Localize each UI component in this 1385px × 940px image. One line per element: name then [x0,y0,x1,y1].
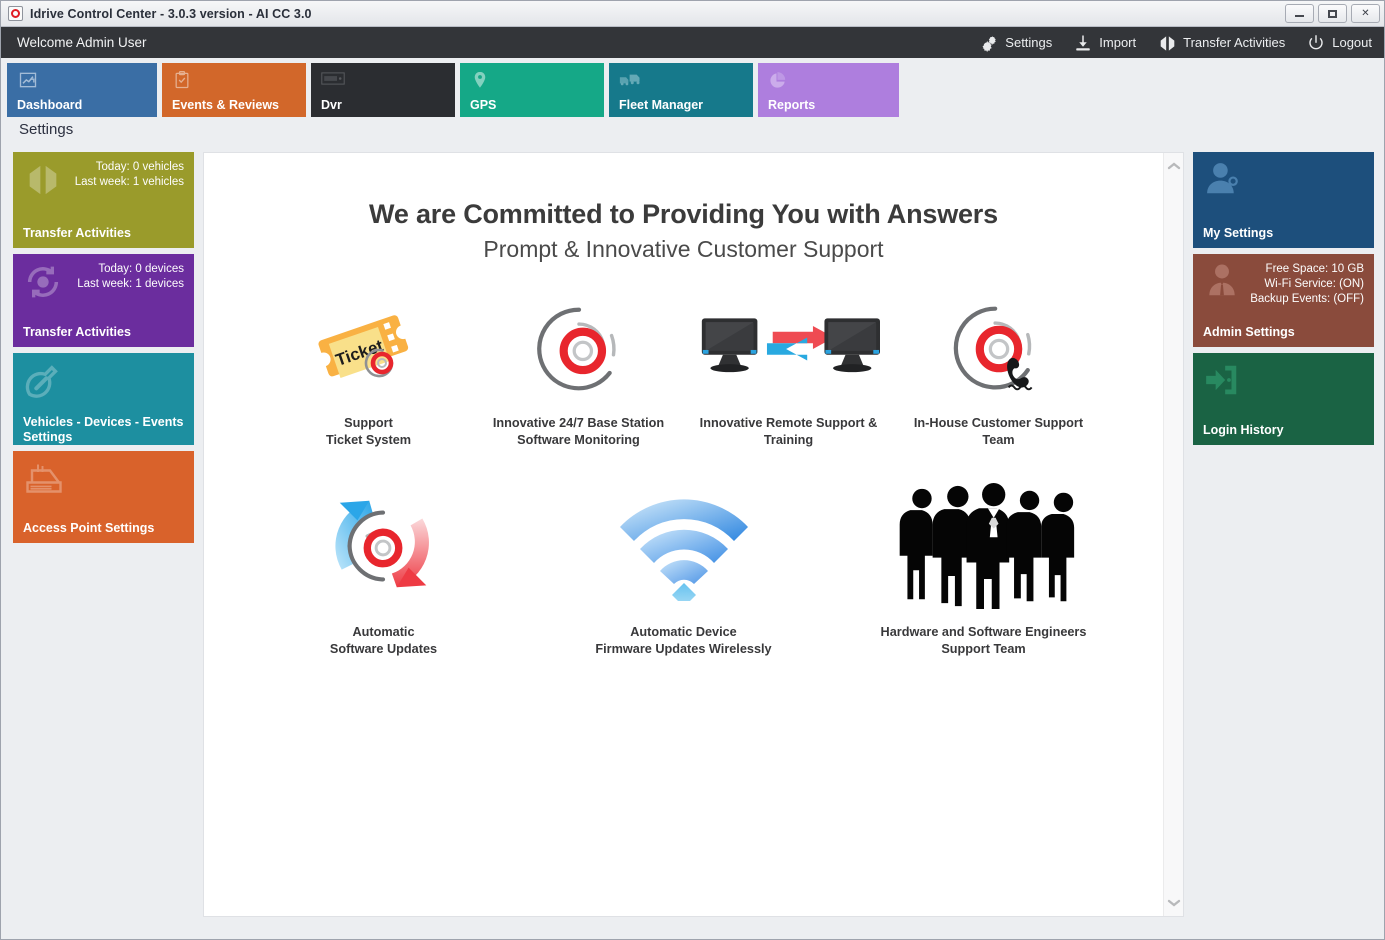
close-button[interactable]: ✕ [1351,4,1380,23]
tile-login-history[interactable]: Login History [1193,353,1374,445]
tile-label: Transfer Activities [23,317,184,340]
top-toolbar: Welcome Admin User Settings [1,27,1384,58]
page-title: Settings [19,121,73,138]
settings-label: Settings [1005,35,1052,50]
tab-dashboard-label: Dashboard [17,98,147,117]
content-scroll-area: We are Committed to Providing You with A… [204,153,1163,916]
feature-caption: Automatic Software Updates [330,624,437,658]
tile-admin-settings[interactable]: Free Space: 10 GB Wi-Fi Service: (ON) Ba… [1193,254,1374,347]
stat-wifi-service: Wi-Fi Service: (ON) [1250,277,1364,292]
feature-caption: Automatic Device Firmware Updates Wirele… [595,624,771,658]
fleet-vehicles-icon [619,70,641,90]
right-tile-column: My Settings Free Space: 10 GB Wi [1193,152,1374,917]
tab-reports[interactable]: Reports [758,63,899,117]
feature-hardware-software-engineers: Hardware and Software Engineers Support … [834,483,1134,658]
caption-line-1: Automatic Device [595,624,771,641]
remote-monitors-icon [698,299,880,399]
tab-reports-label: Reports [768,98,889,117]
tab-fleet-manager[interactable]: Fleet Manager [609,63,753,117]
router-icon [23,459,63,499]
wifi-signal-icon [614,483,754,608]
import-button[interactable]: Import [1074,34,1136,52]
feature-in-house-support-team: In-House Customer Support Team [894,299,1104,449]
base-station-target-icon [533,299,625,399]
logout-button[interactable]: Logout [1307,34,1372,52]
feature-caption: Innovative 24/7 Base Station Software Mo… [493,415,664,449]
login-door-icon [1203,361,1243,401]
tile-label: My Settings [1203,218,1364,241]
tile-transfer-activities-devices[interactable]: Today: 0 devices Last week: 1 devices Tr… [13,254,194,347]
transfer-arrows-icon [1158,34,1176,52]
caption-line-2: Software Monitoring [493,432,664,449]
tile-vehicles-devices-events-settings[interactable]: Vehicles - Devices - Events Settings [13,353,194,445]
caption-line-1: Hardware and Software Engineers [881,624,1087,641]
maximize-button[interactable] [1318,4,1347,23]
feature-row-1: Ticket Support Ticket S [204,299,1163,449]
transfer-activities-label: Transfer Activities [1183,35,1285,50]
team-silhouettes-icon [886,483,1082,608]
power-icon [1307,34,1325,52]
app-logo-icon [8,6,23,21]
clipboard-check-icon [172,70,194,90]
caption-line-2: Ticket System [326,432,411,449]
support-ticket-icon: Ticket [314,299,424,399]
scrollbar-track[interactable] [1164,171,1183,898]
caption-line-2: Software Updates [330,641,437,658]
wrench-icon [23,361,63,401]
tile-stats: Today: 0 vehicles Last week: 1 vehicles [75,160,184,190]
caption-line-2: Firmware Updates Wirelessly [595,641,771,658]
sync-device-icon [23,262,63,302]
feature-caption: In-House Customer Support Team [914,415,1083,449]
tab-fleet-manager-label: Fleet Manager [619,98,743,117]
pie-chart-icon [768,70,790,90]
feature-automatic-software-updates: Automatic Software Updates [234,483,534,658]
transfer-activities-button[interactable]: Transfer Activities [1158,34,1285,52]
left-tile-column: Today: 0 vehicles Last week: 1 vehicles … [13,152,194,917]
logout-label: Logout [1332,35,1372,50]
chevron-up-icon[interactable] [1167,161,1181,171]
stat-today: Today: 0 vehicles [75,160,184,175]
application-window: Idrive Control Center - 3.0.3 version - … [0,0,1385,940]
content-headline: We are Committed to Providing You with A… [204,199,1163,230]
tile-label: Vehicles - Devices - Events Settings [23,407,184,445]
caption-line-1: Innovative 24/7 Base Station [493,415,664,432]
tab-dvr-label: Dvr [321,98,445,117]
feature-remote-support-training: Innovative Remote Support & Training [684,299,894,449]
stat-backup-events: Backup Events: (OFF) [1250,292,1364,307]
dvr-device-icon [321,70,343,90]
download-icon [1074,34,1092,52]
admin-user-icon [1203,262,1243,302]
settings-button[interactable]: Settings [980,34,1052,52]
tile-label: Transfer Activities [23,218,184,241]
feature-support-ticket-system: Ticket Support Ticket S [264,299,474,449]
stat-free-space: Free Space: 10 GB [1250,262,1364,277]
caption-line-2: Training [700,432,878,449]
page-body: Today: 0 vehicles Last week: 1 vehicles … [1,152,1384,939]
tab-dashboard[interactable]: Dashboard [7,63,157,117]
tab-gps-label: GPS [470,98,594,117]
minimize-button[interactable] [1285,4,1314,23]
content-subheadline: Prompt & Innovative Customer Support [204,236,1163,263]
welcome-message: Welcome Admin User [17,35,147,50]
tab-dvr[interactable]: Dvr [311,63,455,117]
title-bar: Idrive Control Center - 3.0.3 version - … [1,1,1384,27]
tile-access-point-settings[interactable]: Access Point Settings [13,451,194,543]
feature-caption: Support Ticket System [326,415,411,449]
tab-gps[interactable]: GPS [460,63,604,117]
chart-growth-icon [17,70,39,90]
transfer-arrows-icon [23,160,63,200]
tile-transfer-activities-vehicles[interactable]: Today: 0 vehicles Last week: 1 vehicles … [13,152,194,248]
tile-stats: Free Space: 10 GB Wi-Fi Service: (ON) Ba… [1250,262,1364,307]
tile-label: Login History [1203,415,1364,438]
caption-line-1: Support [326,415,411,432]
target-phone-icon [949,299,1049,399]
tile-stats: Today: 0 devices Last week: 1 devices [77,262,184,292]
page-title-row: Settings [1,118,1384,152]
main-tab-strip: Dashboard Events & Reviews Dvr [1,58,1384,118]
import-label: Import [1099,35,1136,50]
caption-line-1: Innovative Remote Support & [700,415,878,432]
stat-last-week: Last week: 1 devices [77,277,184,292]
refresh-target-icon [320,483,448,608]
stat-today: Today: 0 devices [77,262,184,277]
feature-row-2: Automatic Software Updates [204,483,1163,658]
caption-line-1: In-House Customer Support [914,415,1083,432]
tab-events-reviews-label: Events & Reviews [172,98,296,117]
tile-label: Access Point Settings [23,513,184,536]
feature-caption: Innovative Remote Support & Training [700,415,878,449]
window-controls: ✕ [1285,4,1380,23]
window-title: Idrive Control Center - 3.0.3 version - … [30,7,312,21]
tile-label: Admin Settings [1203,317,1364,340]
caption-line-1: Automatic [330,624,437,641]
top-toolbar-actions: Settings Import Transfer Activities [980,34,1372,52]
caption-line-2: Team [914,432,1083,449]
chevron-down-icon[interactable] [1167,898,1181,908]
feature-base-station-monitoring: Innovative 24/7 Base Station Software Mo… [474,299,684,449]
feature-caption: Hardware and Software Engineers Support … [881,624,1087,658]
tile-my-settings[interactable]: My Settings [1193,152,1374,248]
feature-automatic-firmware-updates: Automatic Device Firmware Updates Wirele… [534,483,834,658]
caption-line-2: Support Team [881,641,1087,658]
content-panel: We are Committed to Providing You with A… [203,152,1184,917]
tab-events-reviews[interactable]: Events & Reviews [162,63,306,117]
map-pin-icon [470,70,492,90]
user-account-icon [1203,160,1243,200]
gears-icon [980,34,998,52]
stat-last-week: Last week: 1 vehicles [75,175,184,190]
content-vertical-scrollbar[interactable] [1163,153,1183,916]
